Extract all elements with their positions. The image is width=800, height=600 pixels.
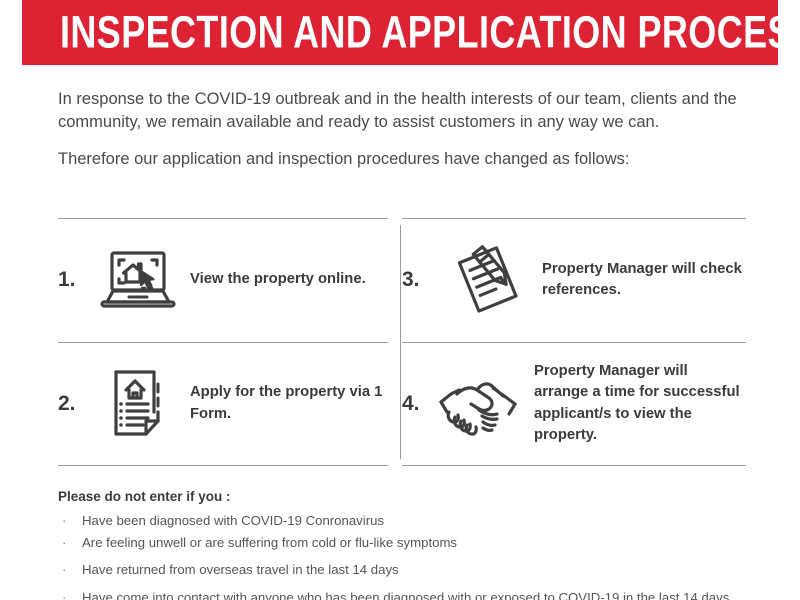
bullet-icon: ·: [62, 589, 66, 600]
bullet-icon: ·: [62, 534, 66, 553]
header-banner: INSPECTION AND APPLICATION PROCESS.: [22, 0, 778, 65]
step-number-2: 2.: [58, 392, 92, 416]
warning-item-text: Have come into contact with anyone who h…: [82, 590, 729, 600]
document-house-form-icon: [92, 368, 184, 440]
document-pen-signing-icon: [442, 243, 536, 317]
warning-item-text: Are feeling unwell or are suffering from…: [82, 535, 457, 550]
bullet-icon: ·: [62, 512, 66, 531]
grid-divider-vertical: [400, 225, 401, 459]
step-item-4: 4.: [402, 342, 746, 465]
warning-item-text: Have been diagnosed with COVID-19 Conron…: [82, 513, 384, 528]
step-number-3: 3.: [402, 268, 442, 292]
laptop-house-cursor-icon: [92, 249, 184, 311]
intro-section: In response to the COVID-19 outbreak and…: [58, 88, 748, 170]
step-label-3: Property Manager will check references.: [536, 259, 746, 302]
step-item-3: 3.: [402, 218, 746, 342]
step-number-4: 4.: [402, 392, 428, 416]
bullet-icon: ·: [62, 561, 66, 580]
warning-list-item: · Have been diagnosed with COVID-19 Conr…: [58, 512, 748, 531]
step-label-1: View the property online.: [184, 269, 388, 290]
intro-paragraph-2: Therefore our application and inspection…: [58, 148, 698, 171]
step-label-4: Property Manager will arrange a time for…: [528, 361, 746, 447]
warning-list-item: · Are feeling unwell or are suffering fr…: [58, 534, 748, 553]
steps-grid: 1.: [58, 218, 746, 466]
warning-item-text: Have returned from overseas travel in th…: [82, 562, 399, 577]
step-number-1: 1.: [58, 268, 92, 292]
step-label-2: Apply for the property via 1 Form.: [184, 382, 388, 425]
handshake-icon: [428, 368, 528, 440]
intro-paragraph-1: In response to the COVID-19 outbreak and…: [58, 88, 748, 134]
step-item-2: 2.: [58, 342, 388, 465]
infographic-page: INSPECTION AND APPLICATION PROCESS. In r…: [0, 0, 800, 600]
page-title: INSPECTION AND APPLICATION PROCESS.: [60, 9, 778, 54]
warning-list-item: · Have returned from overseas travel in …: [58, 561, 748, 580]
warning-list-item: · Have come into contact with anyone who…: [58, 589, 748, 600]
grid-divider-bottom-right: [402, 465, 746, 466]
warning-section: Please do not enter if you : · Have been…: [58, 489, 748, 600]
step-item-1: 1.: [58, 218, 388, 342]
grid-divider-bottom-left: [58, 465, 388, 466]
warning-title: Please do not enter if you :: [58, 489, 748, 504]
